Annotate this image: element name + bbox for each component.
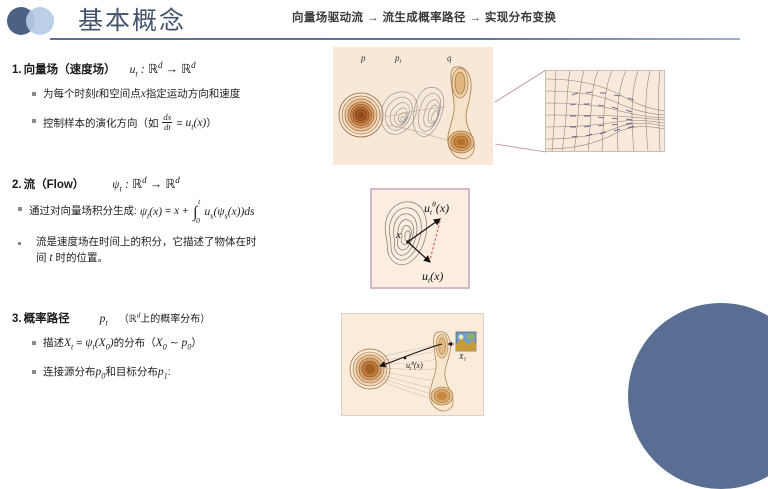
section-1-bullets: 为每个时刻t和空间点x指定运动方向和速度 控制样本的演化方向（如 dxdt = … bbox=[0, 86, 335, 133]
probability-path-figure: utθ(x) X1 bbox=[341, 313, 484, 416]
section-3-title: 概率路径 bbox=[24, 310, 70, 326]
header-divider bbox=[50, 38, 740, 40]
page-subtitle: 向量场驱动流 → 流生成概率路径 → 实现分布变换 bbox=[292, 9, 556, 25]
section-3-number: 3. bbox=[12, 313, 22, 325]
vector-field-grid-zoom bbox=[545, 70, 665, 152]
section-flow: 2. 流（Flow） ψt : ℝd → ℝd 通过对向量场积分生成: ψt(x… bbox=[0, 175, 335, 277]
section-1-number: 1. bbox=[12, 64, 22, 76]
zoom-connector-lines bbox=[493, 60, 548, 165]
bullet-marker-icon bbox=[32, 92, 36, 96]
logo-dots bbox=[7, 7, 63, 35]
section-1-heading: 1. 向量场（速度场） ut : ℝd → ℝd bbox=[12, 60, 335, 78]
fig1-label-q: q bbox=[447, 53, 452, 63]
bullet-marker-icon bbox=[32, 341, 36, 345]
list-item-text: 为每个时刻t和空间点x指定运动方向和速度 bbox=[43, 86, 240, 103]
fig3-graphic: utθ(x) X1 bbox=[342, 314, 483, 415]
fig1-label-p: p bbox=[360, 53, 366, 63]
fig2-graphic: x utθ(x) ut(x) bbox=[372, 190, 468, 287]
section-3-formula: pt （ℝd上的概率分布） bbox=[100, 310, 211, 327]
corner-decoration-circle bbox=[628, 303, 768, 489]
fig1-source-density bbox=[339, 93, 383, 137]
logo-dot-light-icon bbox=[26, 7, 54, 35]
page-title: 基本概念 bbox=[78, 1, 186, 37]
bullet-marker-icon bbox=[18, 242, 21, 245]
list-item-text: 连接源分布p0和目标分布p1: bbox=[43, 364, 171, 382]
section-1-title: 向量场（速度场） bbox=[24, 61, 116, 77]
list-item: 通过对向量场积分生成: ψt(x) = x + ∫t0us(ψs(x))ds bbox=[18, 201, 335, 224]
fig2-label-u-theta: utθ(x) bbox=[424, 200, 449, 217]
list-item: 为每个时刻t和空间点x指定运动方向和速度 bbox=[32, 86, 335, 103]
section-2-title: 流（Flow） bbox=[24, 176, 85, 192]
list-item-text: 流是速度场在时间上的积分，它描述了物体在时间 t 时的位置。 bbox=[36, 235, 281, 267]
list-item: 描述Xt = ψt(X0)的分布（X0 ∼ p0） bbox=[32, 335, 335, 353]
section-1-formula: ut : ℝd → ℝd bbox=[130, 60, 196, 78]
list-item-text: 通过对向量场积分生成: ψt(x) = x + ∫t0us(ψs(x))ds bbox=[29, 201, 255, 224]
slide-header: 基本概念 向量场驱动流 → 流生成概率路径 → 实现分布变换 bbox=[0, 0, 768, 46]
fig1-graphic: p pt q bbox=[333, 47, 493, 165]
section-3-heading: 3. 概率路径 pt （ℝd上的概率分布） bbox=[12, 310, 335, 327]
section-3-bullets: 描述Xt = ψt(X0)的分布（X0 ∼ p0） 连接源分布p0和目标分布p1… bbox=[0, 335, 335, 382]
fig3-midpoint-dot bbox=[404, 357, 407, 360]
fig1-zoom-graphic bbox=[546, 71, 664, 151]
bullet-marker-icon bbox=[32, 119, 36, 123]
list-item: 流是速度场在时间上的积分，它描述了物体在时间 t 时的位置。 bbox=[18, 235, 335, 267]
flow-vector-figure: x utθ(x) ut(x) bbox=[370, 188, 470, 289]
section-2-number: 2. bbox=[12, 179, 22, 191]
section-2-formula: ψt : ℝd → ℝd bbox=[112, 175, 179, 193]
section-2-heading: 2. 流（Flow） ψt : ℝd → ℝd bbox=[12, 175, 335, 193]
section-2-bullets: 通过对向量场积分生成: ψt(x) = x + ∫t0us(ψs(x))ds 流… bbox=[0, 201, 335, 266]
list-item: 控制样本的演化方向（如 dxdt = ut(x)） bbox=[32, 113, 335, 134]
list-item: 连接源分布p0和目标分布p1: bbox=[32, 364, 335, 382]
fig2-label-x: x bbox=[395, 229, 401, 241]
list-item-text: 描述Xt = ψt(X0)的分布（X0 ∼ p0） bbox=[43, 335, 202, 353]
fig2-label-u-true: ut(x) bbox=[422, 269, 443, 285]
bullet-marker-icon bbox=[18, 207, 22, 211]
bullet-marker-icon bbox=[32, 370, 36, 374]
fig3-sample-thumbnail bbox=[456, 332, 476, 351]
list-item-text: 控制样本的演化方向（如 dxdt = ut(x)） bbox=[43, 113, 217, 134]
section-probability-path: 3. 概率路径 pt （ℝd上的概率分布） 描述Xt = ψt(X0)的分布（X… bbox=[0, 310, 335, 392]
fig3-source-density bbox=[350, 349, 390, 389]
section-vector-field: 1. 向量场（速度场） ut : ℝd → ℝd 为每个时刻t和空间点x指定运动… bbox=[0, 60, 335, 144]
section-3-formula-note: （ℝd上的概率分布） bbox=[119, 314, 211, 325]
vector-field-density-figure: p pt q bbox=[333, 47, 493, 165]
